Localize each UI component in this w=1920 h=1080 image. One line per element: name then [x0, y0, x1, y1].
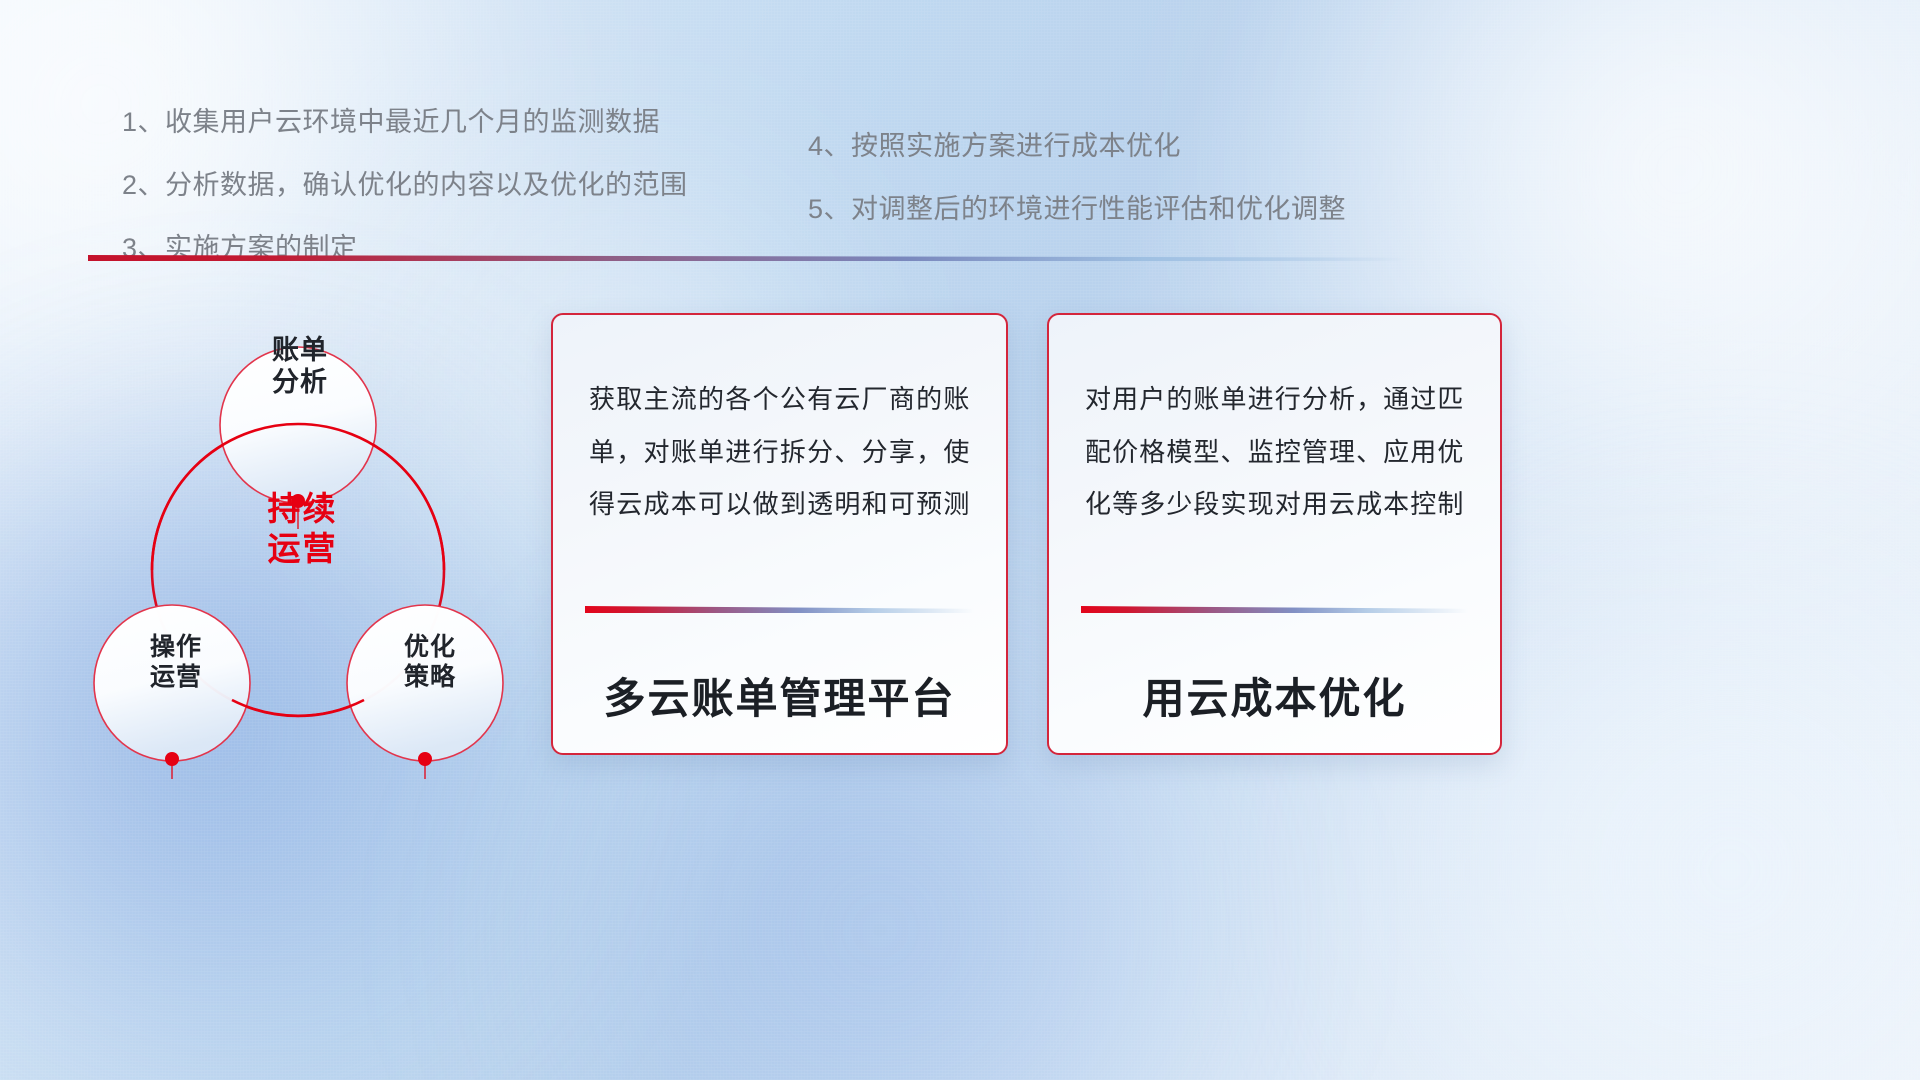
step-item-4: 4、按照实施方案进行成本优化 — [808, 124, 1346, 163]
card-title: 多云账单管理平台 — [553, 665, 1006, 726]
feature-card-multicloud-billing[interactable]: 获取主流的各个公有云厂商的账单，对账单进行拆分、分享，使得云成本可以做到透明和可… — [551, 313, 1008, 755]
step-item-2: 2、分析数据，确认优化的内容以及优化的范围 — [122, 163, 688, 202]
step-item-5: 5、对调整后的环境进行性能评估和优化调整 — [808, 187, 1346, 226]
bubble-label-line-2: 策略 — [370, 663, 490, 693]
bubble-label-line-2: 分析 — [240, 367, 360, 399]
center-label-line-1: 持续 — [235, 489, 370, 529]
card-body-text: 对用户的账单进行分析，通过匹配价格模型、监控管理、应用优化等多少段实现对用云成本… — [1085, 373, 1464, 531]
bubble-label-line-1: 优化 — [370, 633, 490, 663]
steps-list-right: 4、按照实施方案进行成本优化 5、对调整后的环境进行性能评估和优化调整 — [808, 124, 1346, 250]
ring-arc-lower — [232, 700, 364, 716]
card-divider-line — [1081, 606, 1468, 613]
step-item-1: 1、收集用户云环境中最近几个月的监测数据 — [122, 100, 688, 139]
bubble-label-line-1: 账单 — [240, 335, 360, 367]
junction-dot-bottom-left — [165, 752, 179, 766]
diagram-center-label: 持续 运营 — [235, 489, 370, 570]
card-divider-line — [585, 606, 974, 613]
bubble-label-optimization-strategy: 优化 策略 — [370, 633, 490, 692]
card-title: 用云成本优化 — [1049, 665, 1500, 726]
bubble-label-operations: 操作 运营 — [116, 633, 236, 692]
center-label-line-2: 运营 — [235, 529, 370, 569]
bubble-label-billing-analysis: 账单 分析 — [240, 335, 360, 399]
bubble-label-line-2: 运营 — [116, 663, 236, 693]
continuous-operation-diagram: 账单 分析 操作 运营 优化 策略 持续 运营 — [80, 285, 550, 780]
bubble-label-line-1: 操作 — [116, 633, 236, 663]
feature-card-cloud-cost-optimization[interactable]: 对用户的账单进行分析，通过匹配价格模型、监控管理、应用优化等多少段实现对用云成本… — [1047, 313, 1502, 755]
card-body-text: 获取主流的各个公有云厂商的账单，对账单进行拆分、分享，使得云成本可以做到透明和可… — [589, 373, 970, 531]
junction-dot-bottom-right — [418, 752, 432, 766]
